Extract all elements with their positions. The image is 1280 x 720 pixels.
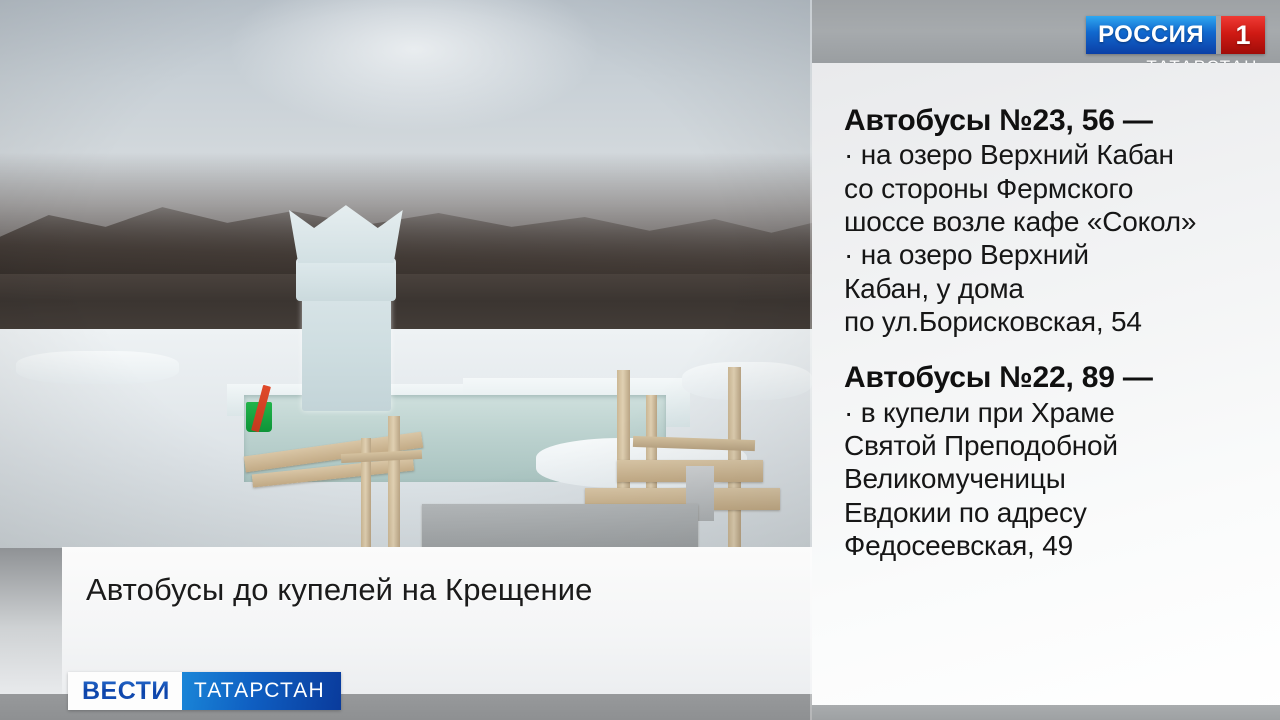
info-block: Автобусы №23, 56 — · на озеро Верхний Ка… xyxy=(812,103,1280,338)
channel-number-label: 1 xyxy=(1235,20,1250,51)
vesti-tatarstan-logo: ВЕСТИ ТАТАРСТАН xyxy=(68,672,341,710)
rossiya-label: РОССИЯ xyxy=(1098,21,1204,49)
broadcast-frame: Автобусы до купелей на Крещение ВЕСТИ ТА… xyxy=(0,0,1280,720)
rossiya-wordmark: РОССИЯ xyxy=(1086,16,1216,54)
info-block-line: шоссе возле кафе «Сокол» xyxy=(844,205,1280,238)
info-block-line: со стороны Фермского xyxy=(844,172,1280,205)
top-bar: РОССИЯ 1 xyxy=(812,0,1280,63)
video-frame[interactable] xyxy=(0,0,812,548)
info-block-line: Святой Преподобной xyxy=(844,429,1280,462)
info-block-line: · на озеро Верхний xyxy=(844,238,1280,271)
info-block-line: Великомученицы xyxy=(844,462,1280,495)
panel-seam xyxy=(810,0,812,720)
vesti-wordmark: ВЕСТИ xyxy=(68,672,182,710)
info-block: Автобусы №22, 89 — · в купели при Храме … xyxy=(812,360,1280,562)
channel-number-badge: 1 xyxy=(1221,16,1265,54)
vesti-label: ВЕСТИ xyxy=(82,677,170,706)
vesti-region-block: ТАТАРСТАН xyxy=(182,672,341,710)
info-block-line: · в купели при Храме xyxy=(844,396,1280,429)
info-block-line: Евдокии по адресу xyxy=(844,496,1280,529)
vesti-region-label: ТАТАРСТАН xyxy=(194,679,325,703)
info-block-line: · на озеро Верхний Кабан xyxy=(844,138,1280,171)
bottom-bar xyxy=(812,705,1280,720)
info-panel: Автобусы №23, 56 — · на озеро Верхний Ка… xyxy=(812,63,1280,720)
info-block-line: Кабан, у дома xyxy=(844,272,1280,305)
video-vignette xyxy=(0,0,812,548)
info-block-title: Автобусы №23, 56 — xyxy=(844,103,1280,138)
left-gradient-strip xyxy=(0,548,62,694)
info-block-line: Федосеевская, 49 xyxy=(844,529,1280,562)
headline-text: Автобусы до купелей на Крещение xyxy=(86,572,592,608)
rossiya-1-logo: РОССИЯ 1 xyxy=(1086,16,1265,54)
info-block-line: по ул.Борисковская, 54 xyxy=(844,305,1280,338)
info-block-title: Автобусы №22, 89 — xyxy=(844,360,1280,395)
